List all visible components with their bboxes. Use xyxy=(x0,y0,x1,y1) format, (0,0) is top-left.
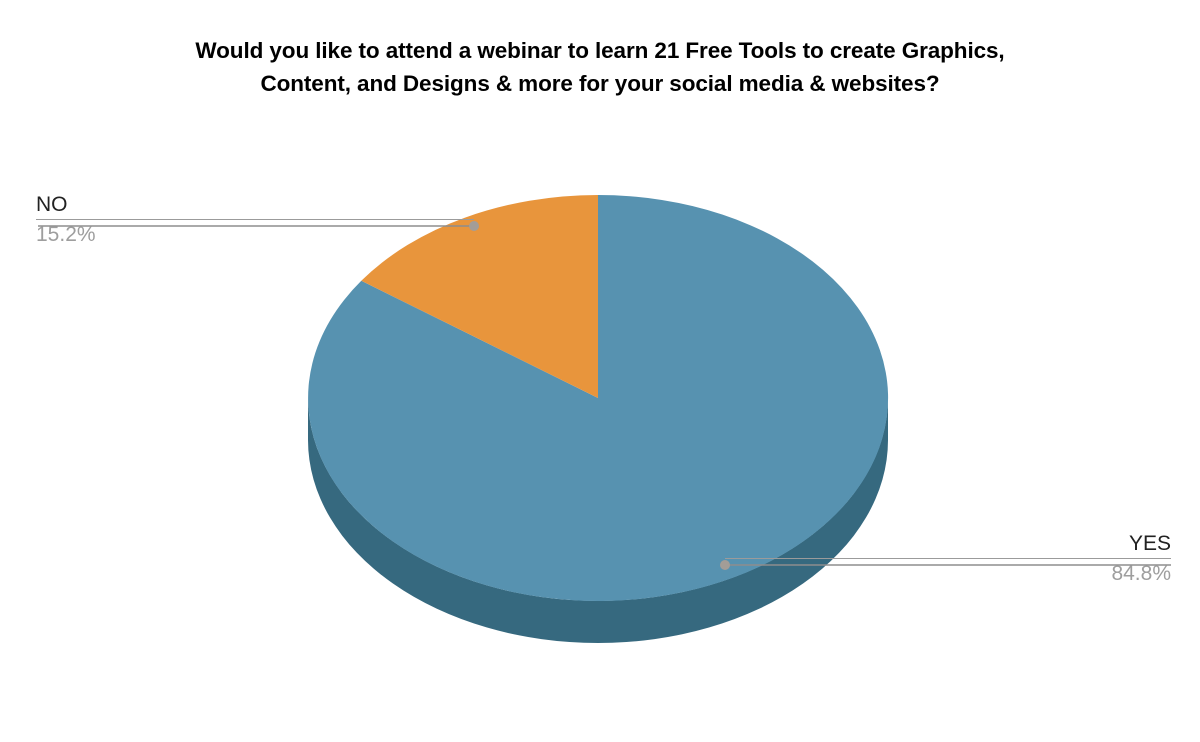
callout-yes: YES 84.8% xyxy=(725,531,1171,587)
callout-rule-yes xyxy=(725,558,1171,559)
slice-label-no: NO xyxy=(36,192,476,217)
pie-graphic xyxy=(0,0,1200,742)
callout-rule-no xyxy=(36,219,474,220)
slice-value-yes: 84.8% xyxy=(725,560,1171,587)
slice-value-no: 15.2% xyxy=(36,221,476,248)
pie-chart-canvas: Would you like to attend a webinar to le… xyxy=(0,0,1200,742)
callout-no: NO 15.2% xyxy=(36,192,476,248)
slice-label-yes: YES xyxy=(725,531,1171,556)
